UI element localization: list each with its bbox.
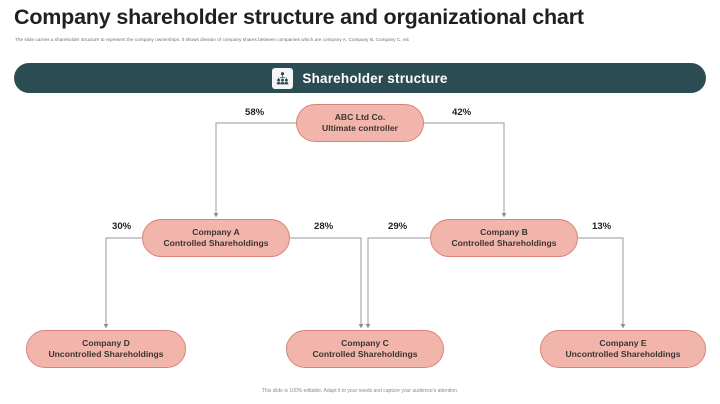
node-company-a[interactable]: Company A Controlled Shareholdings: [142, 219, 290, 257]
edge-label-root-to-b: 42%: [452, 107, 471, 118]
node-subtitle: Ultimate controller: [322, 123, 398, 134]
edge-label-root-to-a: 58%: [245, 107, 264, 118]
edge-label-a-to-d: 30%: [112, 221, 131, 232]
node-company-c[interactable]: Company C Controlled Shareholdings: [286, 330, 444, 368]
node-company-e[interactable]: Company E Uncontrolled Shareholdings: [540, 330, 706, 368]
node-title: ABC Ltd Co.: [335, 112, 386, 123]
node-title: Company E: [599, 338, 646, 349]
node-subtitle: Uncontrolled Shareholdings: [48, 349, 163, 360]
node-title: Company A: [192, 227, 239, 238]
edge-label-b-to-c: 29%: [388, 221, 407, 232]
footer-note: This slide is 100% editable. Adapt it to…: [0, 388, 720, 394]
node-subtitle: Uncontrolled Shareholdings: [565, 349, 680, 360]
node-company-b[interactable]: Company B Controlled Shareholdings: [430, 219, 578, 257]
edge-label-a-to-c: 28%: [314, 221, 333, 232]
node-abc-ltd-co[interactable]: ABC Ltd Co. Ultimate controller: [296, 104, 424, 142]
node-subtitle: Controlled Shareholdings: [163, 238, 268, 249]
slide-canvas: Company shareholder structure and organi…: [0, 0, 720, 404]
org-chart: ABC Ltd Co. Ultimate controller Company …: [0, 0, 720, 404]
node-subtitle: Controlled Shareholdings: [312, 349, 417, 360]
node-title: Company B: [480, 227, 528, 238]
node-title: Company D: [82, 338, 130, 349]
node-company-d[interactable]: Company D Uncontrolled Shareholdings: [26, 330, 186, 368]
node-title: Company C: [341, 338, 389, 349]
edge-label-b-to-e: 13%: [592, 221, 611, 232]
node-subtitle: Controlled Shareholdings: [451, 238, 556, 249]
